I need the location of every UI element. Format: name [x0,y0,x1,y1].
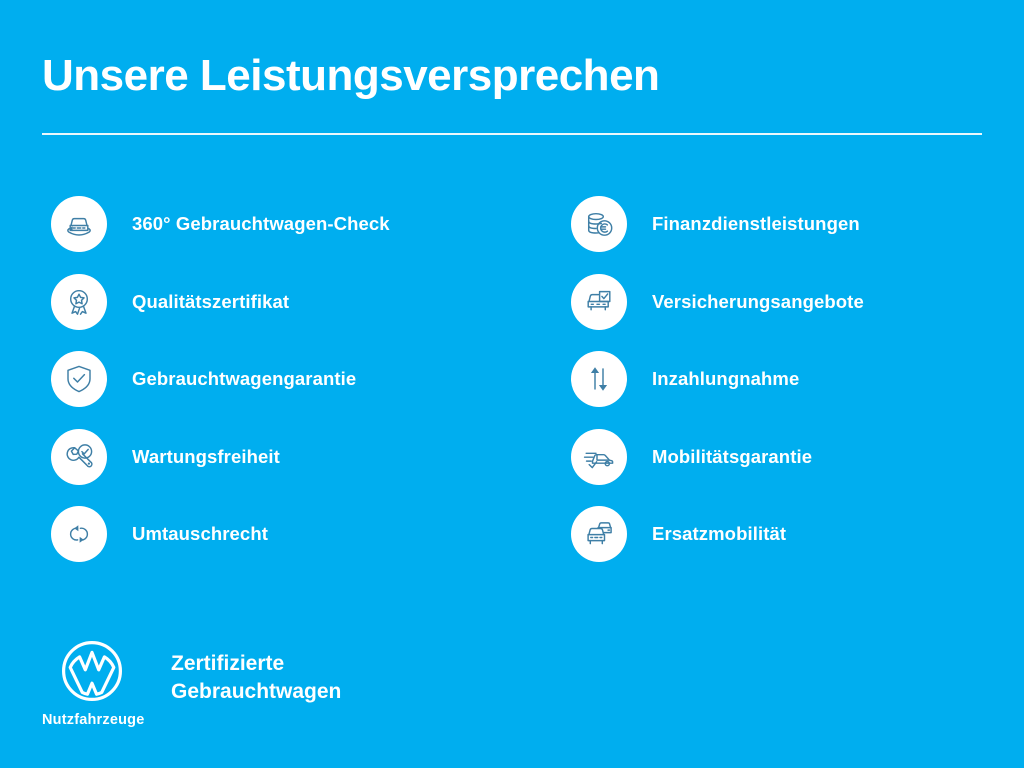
brand-lockup: Nutzfahrzeuge Zertifizierte Gebrauchtwag… [42,636,642,746]
promise-item[interactable]: Finanzdienstleistungen [571,196,1011,274]
exchange-arrows-icon [51,506,107,562]
car-checkbox-icon [571,274,627,330]
promise-label: 360° Gebrauchtwagen-Check [132,213,390,235]
award-rosette-icon [51,274,107,330]
promise-item[interactable]: Versicherungsangebote [571,274,1011,352]
promise-item[interactable]: Wartungsfreiheit [51,429,491,507]
brand-claim-line-2: Gebrauchtwagen [171,678,341,706]
promise-item[interactable]: Mobilitätsgarantie [571,429,1011,507]
promise-label: Gebrauchtwagengarantie [132,368,356,390]
promise-label: Mobilitätsgarantie [652,446,812,468]
promise-item[interactable]: Qualitätszertifikat [51,274,491,352]
car-motion-icon [571,429,627,485]
title-divider [42,133,982,135]
coins-euro-icon [571,196,627,252]
promise-label: Finanzdienstleistungen [652,213,860,235]
promise-label: Umtauschrecht [132,523,268,545]
vw-logo-icon [61,640,123,702]
arrows-up-down-icon [571,351,627,407]
promises-column-left: 360° Gebrauchtwagen-Check Qualitätszerti… [51,196,491,584]
page-title: Unsere Leistungsversprechen [42,52,659,100]
vw-logo-subtitle: Nutzfahrzeuge [42,712,145,728]
car-360-check-icon [51,196,107,252]
promise-label: Wartungsfreiheit [132,446,280,468]
slide-root: Unsere Leistungsversprechen 360° Ge [0,0,1024,768]
wrench-check-icon [51,429,107,485]
promises-column-right: Finanzdienstleistungen [571,196,1011,584]
promise-label: Versicherungsangebote [652,291,864,313]
promise-item[interactable]: 360° Gebrauchtwagen-Check [51,196,491,274]
shield-check-icon [51,351,107,407]
promise-item[interactable]: Umtauschrecht [51,506,491,584]
brand-claim-line-1: Zertifizierte [171,650,341,678]
promise-label: Ersatzmobilität [652,523,786,545]
promise-label: Inzahlungnahme [652,368,799,390]
promise-item[interactable]: Gebrauchtwagengarantie [51,351,491,429]
two-cars-icon [571,506,627,562]
promise-item[interactable]: Inzahlungnahme [571,351,1011,429]
brand-claim: Zertifizierte Gebrauchtwagen [171,650,341,706]
promise-label: Qualitätszertifikat [132,291,289,313]
promise-item[interactable]: Ersatzmobilität [571,506,1011,584]
